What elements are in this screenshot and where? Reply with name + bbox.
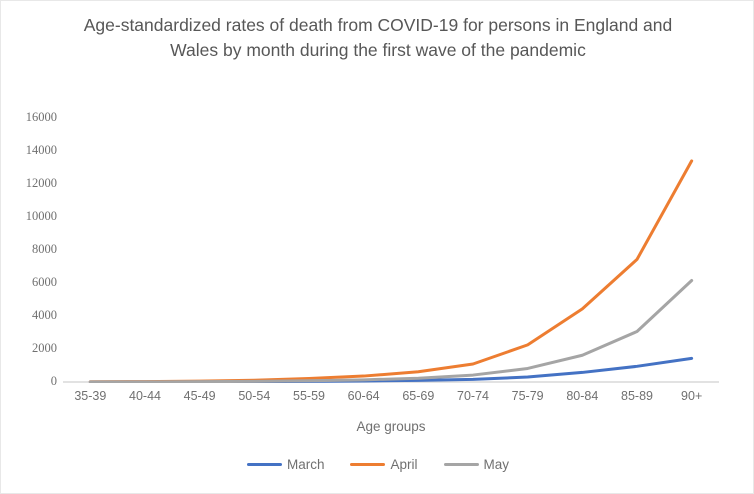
y-axis-tick-label: 14000 xyxy=(1,143,57,158)
x-axis-tick-label: 40-44 xyxy=(116,389,174,403)
chart-figure: Age-standardized rates of death from COV… xyxy=(0,0,754,494)
legend-swatch-icon xyxy=(444,463,479,467)
y-axis-tick-label: 16000 xyxy=(1,110,57,125)
x-axis-tick-label: 75-79 xyxy=(499,389,557,403)
legend-label: April xyxy=(390,457,417,472)
y-axis-tick-label: 4000 xyxy=(1,308,57,323)
y-axis-tick-label: 2000 xyxy=(1,341,57,356)
series-line-april xyxy=(90,161,691,382)
legend-item-may[interactable]: May xyxy=(444,457,510,472)
y-axis: 1600014000120001000080006000400020000 xyxy=(1,106,57,396)
x-axis-tick-label: 60-64 xyxy=(335,389,393,403)
y-axis-tick-label: 8000 xyxy=(1,242,57,257)
y-axis-tick-label: 10000 xyxy=(1,209,57,224)
legend-swatch-icon xyxy=(350,463,385,467)
x-axis-tick-label: 85-89 xyxy=(608,389,666,403)
legend-item-april[interactable]: April xyxy=(350,457,417,472)
x-axis-tick-label: 80-84 xyxy=(553,389,611,403)
chart-legend: MarchAprilMay xyxy=(1,457,754,472)
x-axis-tick-label: 55-59 xyxy=(280,389,338,403)
y-axis-tick-label: 6000 xyxy=(1,275,57,290)
x-axis-tick-label: 65-69 xyxy=(389,389,447,403)
chart-title: Age-standardized rates of death from COV… xyxy=(78,13,678,63)
x-axis-tick-label: 45-49 xyxy=(171,389,229,403)
x-axis-tick-label: 90+ xyxy=(663,389,721,403)
series-group xyxy=(90,161,691,382)
series-line-may xyxy=(90,281,691,382)
x-axis-tick-label: 70-74 xyxy=(444,389,502,403)
x-axis-tick-label: 35-39 xyxy=(61,389,119,403)
line-chart-svg xyxy=(63,113,719,383)
x-axis: 35-3940-4445-4950-5455-5960-6465-6970-74… xyxy=(63,389,719,411)
plot-area xyxy=(63,113,719,383)
x-axis-tick-label: 50-54 xyxy=(225,389,283,403)
legend-label: May xyxy=(484,457,510,472)
legend-label: March xyxy=(287,457,325,472)
legend-swatch-icon xyxy=(247,463,282,467)
y-axis-tick-label: 0 xyxy=(1,374,57,389)
x-axis-title: Age groups xyxy=(63,419,719,434)
legend-item-march[interactable]: March xyxy=(247,457,325,472)
y-axis-tick-label: 12000 xyxy=(1,176,57,191)
